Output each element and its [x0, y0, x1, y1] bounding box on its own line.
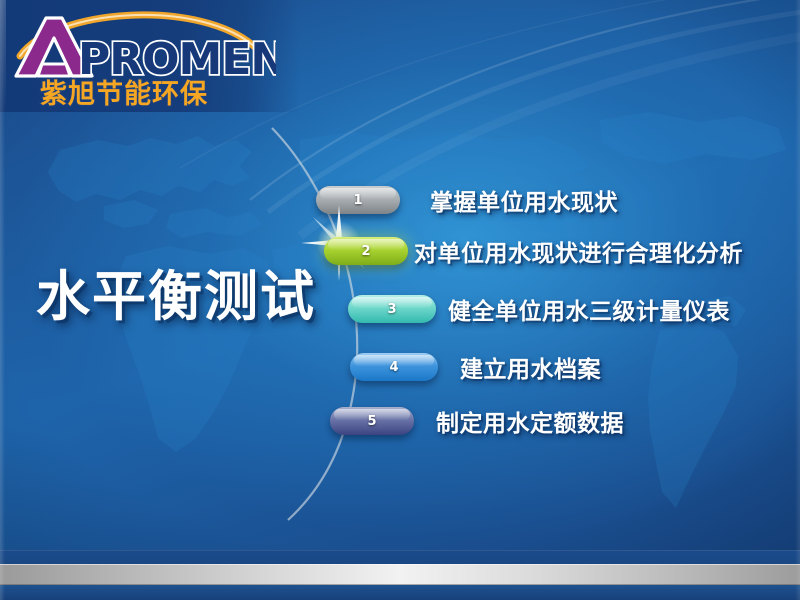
list-item[interactable]: 2 对单位用水现状进行合理化分析	[324, 234, 743, 268]
step-number: 2	[361, 244, 370, 259]
step-label: 制定用水定额数据	[436, 404, 624, 438]
step-number: 4	[389, 360, 398, 375]
step-label: 对单位用水现状进行合理化分析	[414, 234, 743, 268]
step-label: 健全单位用水三级计量仪表	[448, 292, 730, 326]
step-label: 建立用水档案	[460, 350, 601, 384]
numbered-item-list: 1 掌握单位用水现状	[0, 0, 800, 600]
list-item[interactable]: 4 建立用水档案	[350, 350, 601, 384]
footer-silver-bar	[0, 564, 800, 585]
step-badge-5[interactable]: 5	[330, 407, 414, 435]
step-badge-1[interactable]: 1	[316, 186, 400, 214]
footer-bars	[0, 550, 800, 600]
footer-blue-bar-bottom	[0, 585, 800, 600]
list-item[interactable]: 1 掌握单位用水现状	[316, 183, 618, 217]
left-edge-highlight	[0, 0, 5, 600]
step-badge-3[interactable]: 3	[348, 295, 436, 323]
step-label: 掌握单位用水现状	[430, 183, 618, 217]
step-number: 5	[367, 414, 376, 429]
step-badge-2[interactable]: 2	[324, 237, 408, 265]
footer-blue-bar-top	[0, 550, 800, 564]
list-item[interactable]: 3 健全单位用水三级计量仪表	[348, 292, 730, 326]
presentation-slide: PROMEN 紫旭节能环保 水平衡测试 1 掌握单位用水现状	[0, 0, 800, 600]
step-number: 1	[353, 193, 362, 208]
step-number: 3	[387, 302, 396, 317]
step-badge-4[interactable]: 4	[350, 353, 438, 381]
right-edge-highlight	[795, 0, 800, 600]
list-item[interactable]: 5 制定用水定额数据	[330, 404, 624, 438]
